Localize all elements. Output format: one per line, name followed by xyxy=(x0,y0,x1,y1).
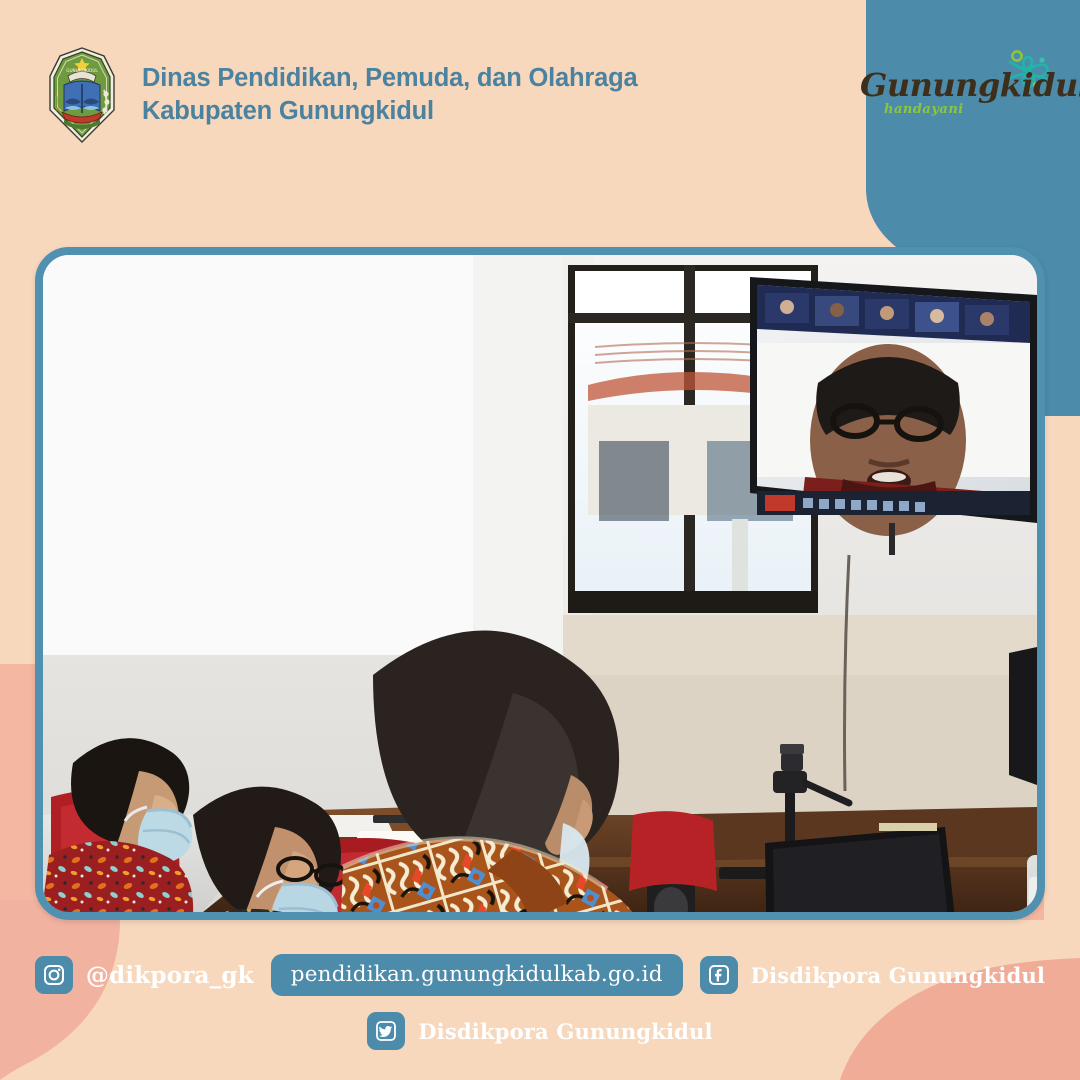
instagram-link[interactable]: @dikpora_gk xyxy=(35,956,254,994)
org-title-line1: Dinas Pendidikan, Pemuda, dan Olahraga xyxy=(142,64,637,92)
footer-row-primary: @dikpora_gk pendidikan.gunungkidulkab.go… xyxy=(0,954,1080,996)
twitter-name: Disdikpora Gunungkidul xyxy=(418,1019,712,1044)
event-photo xyxy=(35,247,1045,920)
twitter-icon xyxy=(367,1012,405,1050)
website-url[interactable]: pendidikan.gunungkidulkab.go.id xyxy=(271,954,683,996)
brand-tagline: handayani xyxy=(884,102,964,117)
wall-mounted-tv xyxy=(750,277,1037,536)
page-title: Dinas Pendidikan, Pemuda, dan Olahraga K… xyxy=(142,62,637,127)
footer-social-bar: @dikpora_gk pendidikan.gunungkidulkab.go… xyxy=(0,940,1080,1080)
photo-scene xyxy=(43,255,1037,912)
svg-text:GUNUNGKIDUL: GUNUNGKIDUL xyxy=(66,68,98,73)
facebook-link[interactable]: Disdikpora Gunungkidul xyxy=(700,956,1045,994)
instagram-icon xyxy=(35,956,73,994)
facebook-name: Disdikpora Gunungkidul xyxy=(751,963,1045,988)
gunungkidul-regency-crest: GUNUNGKIDUL xyxy=(44,46,120,144)
facebook-icon xyxy=(700,956,738,994)
header: GUNUNGKIDUL Dinas Pendidikan, Pemuda, da… xyxy=(0,0,620,190)
twitter-link[interactable]: Disdikpora Gunungkidul xyxy=(367,1012,712,1050)
footer-row-secondary: Disdikpora Gunungkidul xyxy=(0,1012,1080,1050)
org-title-line2: Kabupaten Gunungkidul xyxy=(142,95,637,128)
brand-wordmark: Gunungkidul xyxy=(860,66,1080,104)
gunungkidul-brand: Gunungkidul handayani xyxy=(852,44,1062,140)
instagram-handle: @dikpora_gk xyxy=(86,962,254,989)
